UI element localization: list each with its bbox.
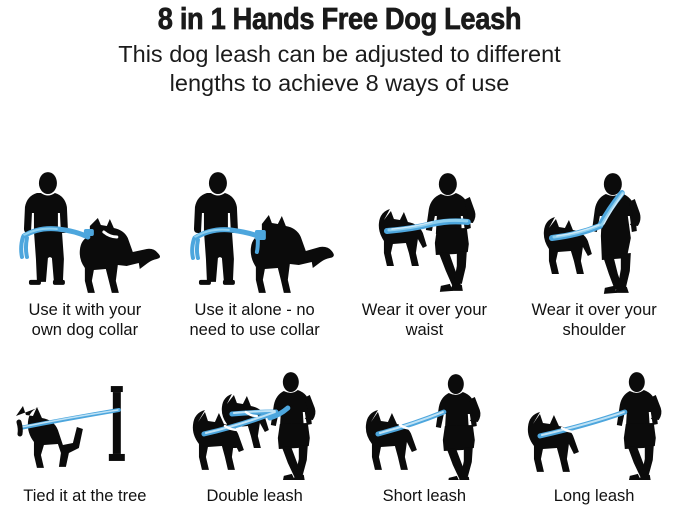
panel-caption: Wear it over your shoulder (511, 300, 677, 340)
illustration-walking-person-shoulder-sash-dog (509, 168, 679, 296)
infographic-page: 8 in 1 Hands Free Dog Leash This dog lea… (0, 0, 679, 520)
illustration-walking-person-two-dogs (170, 368, 340, 480)
caption-line-2: own dog collar (2, 320, 168, 340)
post-shape (109, 386, 125, 461)
caption-line-1: Double leash (172, 486, 338, 506)
illustration-walking-person-dog-short (340, 368, 510, 480)
caption-line-1: Tied it at the tree (2, 486, 168, 506)
caption-line-1: Long leash (511, 486, 677, 506)
caption-line-1: Wear it over your (511, 300, 677, 320)
panel-long-leash: Long leash (509, 368, 679, 520)
caption-line-1: Use it with your (2, 300, 168, 320)
panel-tied-tree: Tied it at the tree (0, 368, 170, 520)
caption-line-1: Use it alone - no (172, 300, 338, 320)
panel-caption: Short leash (341, 486, 507, 506)
panel-short-leash: Short leash (340, 368, 510, 520)
panel-caption: Tied it at the tree (2, 486, 168, 506)
panel-caption: Use it with your own dog collar (2, 300, 168, 340)
panel-over-waist: Wear it over your waist (340, 168, 510, 348)
illustration-dog-tied-to-post (0, 368, 170, 480)
panel-own-collar: Use it with your own dog collar (0, 168, 170, 348)
panel-caption: Double leash (172, 486, 338, 506)
panel-caption: Wear it over your waist (341, 300, 507, 340)
panel-double-leash: Double leash (170, 368, 340, 520)
subtitle-line-1: This dog leash can be adjusted to differ… (50, 40, 629, 69)
page-subtitle: This dog leash can be adjusted to differ… (50, 40, 629, 98)
panel-row-top: Use it with your own dog collar (0, 168, 679, 348)
panel-caption: Long leash (511, 486, 677, 506)
illustration-standing-person-dog-no-collar (170, 168, 340, 296)
panel-row-bottom: Tied it at the tree (0, 368, 679, 520)
caption-line-2: waist (341, 320, 507, 340)
panel-caption: Use it alone - no need to use collar (172, 300, 338, 340)
illustration-standing-person-dog-collar (0, 168, 170, 296)
page-title: 8 in 1 Hands Free Dog Leash (41, 2, 639, 36)
illustration-walking-person-dog-long (509, 368, 679, 480)
panel-alone-no-collar: Use it alone - no need to use collar (170, 168, 340, 348)
caption-line-1: Short leash (341, 486, 507, 506)
subtitle-line-2: lengths to achieve 8 ways of use (50, 69, 629, 98)
caption-line-2: need to use collar (172, 320, 338, 340)
illustration-walking-person-waist-belt-dog (340, 168, 510, 296)
caption-line-1: Wear it over your (341, 300, 507, 320)
caption-line-2: shoulder (511, 320, 677, 340)
panel-over-shoulder: Wear it over your shoulder (509, 168, 679, 348)
